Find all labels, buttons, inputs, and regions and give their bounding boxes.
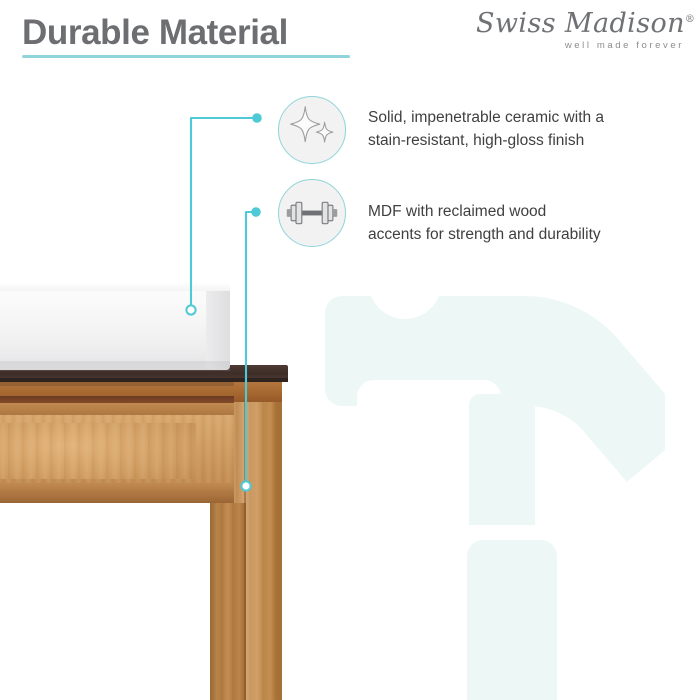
feature-ceramic-line2: stain-resistant, high-gloss finish [368,129,658,152]
feature-wood-text: MDF with reclaimed wood accents for stre… [368,200,658,246]
brand-tagline: well made forever [565,40,684,51]
brand-logo: Swiss Madison® well made forever [476,8,686,60]
sparkle-shine-icon [278,96,346,164]
brand-wordmark: Swiss Madison® [476,8,686,39]
vessel-sink-side [206,285,230,369]
feature-ceramic-line1: Solid, impenetrable ceramic with a [368,106,658,129]
product-photo [0,265,300,700]
vanity-top-shadow [0,382,234,386]
vanity-drawer-panel [0,423,196,479]
promo-graphic: Durable Material Swiss Madison® well mad… [0,0,700,700]
countertop-edge [0,378,288,382]
feature-wood-line2: accents for strength and durability [368,223,658,246]
registered-mark: ® [685,14,695,25]
vanity-leg-seam [244,382,246,700]
vessel-sink-shadow [0,361,230,371]
brand-name: Swiss Madison [476,8,685,39]
feature-ceramic-text: Solid, impenetrable ceramic with a stain… [368,106,658,152]
title-underline [22,55,350,58]
vessel-sink-rim [0,282,230,291]
vanity-bottom-rail [0,483,234,503]
dumbbell-strength-icon [278,179,346,247]
page-title: Durable Material [22,12,288,54]
vessel-sink [0,282,230,370]
vanity-leg-front [210,503,246,700]
feature-wood-line1: MDF with reclaimed wood [368,200,658,223]
